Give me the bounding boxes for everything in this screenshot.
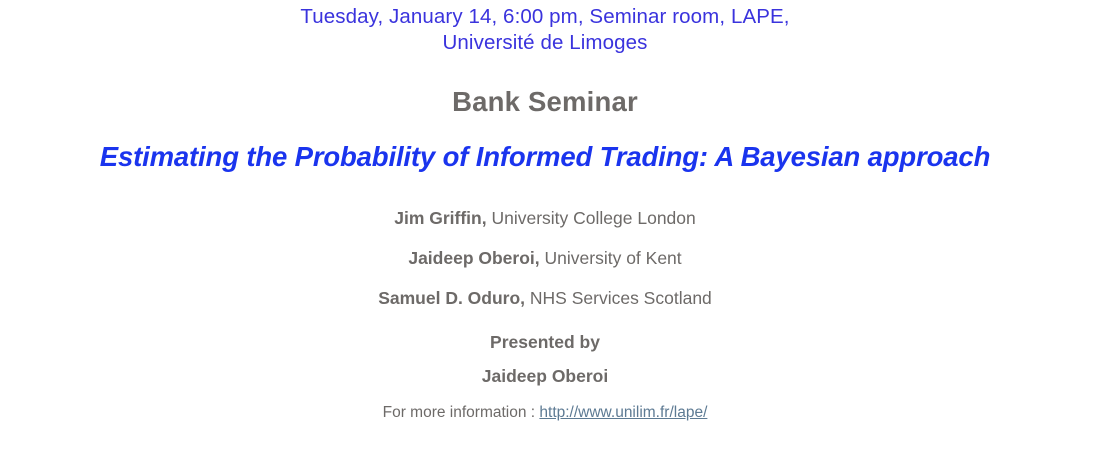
footer-info: For more information : http://www.unilim… <box>0 402 1090 424</box>
more-information-label: For more information : <box>383 404 540 421</box>
author-affiliation: NHS Services Scotland <box>530 288 712 308</box>
seminar-kind-heading: Bank Seminar <box>0 85 1090 119</box>
presenter-block: Presented by Jaideep Oberoi <box>0 325 1090 393</box>
presenter-name: Jaideep Oberoi <box>0 359 1090 393</box>
venue-university-line: Université de Limoges <box>0 30 1090 56</box>
author-row: Jaideep Oberoi, University of Kent <box>0 238 1090 278</box>
author-separator: , <box>535 248 545 268</box>
author-name: Jim Griffin <box>394 208 482 228</box>
author-name: Samuel D. Oduro <box>378 288 520 308</box>
author-row: Samuel D. Oduro, NHS Services Scotland <box>0 278 1090 318</box>
talk-title: Estimating the Probability of Informed T… <box>0 140 1090 174</box>
author-row: Jim Griffin, University College London <box>0 198 1090 238</box>
venue-header: Tuesday, January 14, 6:00 pm, Seminar ro… <box>0 4 1090 56</box>
author-affiliation: University College London <box>491 208 695 228</box>
author-separator: , <box>482 208 492 228</box>
author-affiliation: University of Kent <box>545 248 682 268</box>
presented-by-label: Presented by <box>0 325 1090 359</box>
venue-datetime-line: Tuesday, January 14, 6:00 pm, Seminar ro… <box>0 4 1090 30</box>
author-list: Jim Griffin, University College London J… <box>0 198 1090 318</box>
lape-website-link[interactable]: http://www.unilim.fr/lape/ <box>539 404 707 421</box>
seminar-announcement-page: Tuesday, January 14, 6:00 pm, Seminar ro… <box>0 0 1095 457</box>
author-separator: , <box>520 288 530 308</box>
author-name: Jaideep Oberoi <box>408 248 534 268</box>
